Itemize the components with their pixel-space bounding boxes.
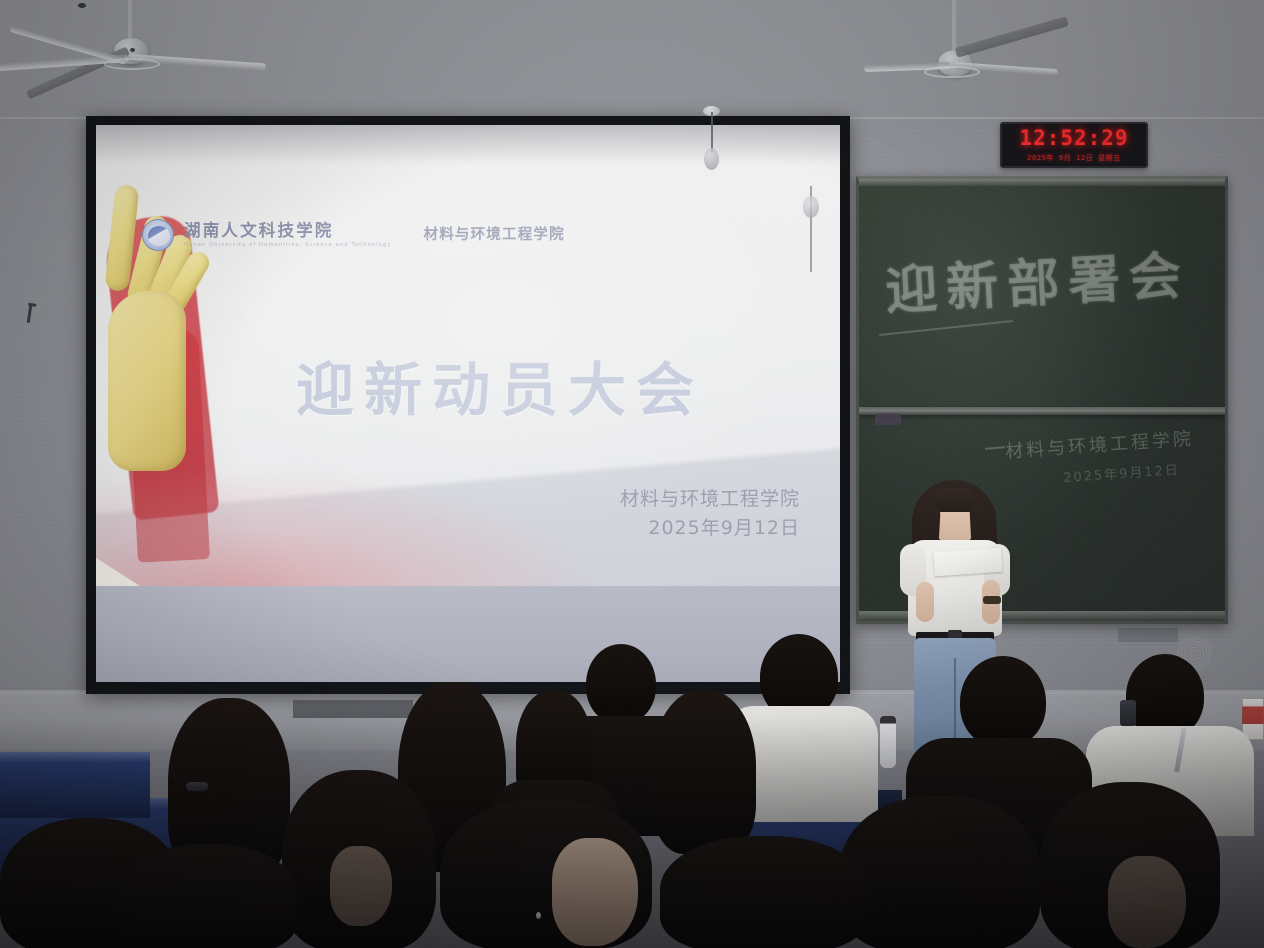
slide-header: 湖南人文科技学院 Hunan University of Humanities,… [142, 219, 565, 251]
classroom-scene: 湖南人文科技学院 Hunan University of Humanities,… [0, 0, 1264, 948]
presentation-slide: 湖南人文科技学院 Hunan University of Humanities,… [96, 125, 840, 682]
clock-date: 2025年 9月 12日 星期五 [1027, 153, 1121, 163]
presenter-arm-left [916, 582, 934, 622]
pull-cord-icon[interactable] [711, 112, 713, 152]
slide-subtitle: 材料与环境工程学院 2025年9月12日 [620, 485, 800, 544]
phone-icon[interactable] [1120, 700, 1136, 726]
slide-subtitle-department: 材料与环境工程学院 [620, 485, 800, 514]
ceiling-speck-2 [130, 48, 135, 52]
digital-wall-clock: 12:52:29 2025年 9月 12日 星期五 [1000, 122, 1148, 168]
water-bottle-icon [880, 716, 896, 768]
slide-bottom-band [96, 586, 840, 682]
audience-face [552, 838, 638, 946]
audience-head [960, 656, 1046, 748]
audience-head-front [840, 796, 1040, 948]
audience-head-front [118, 844, 298, 948]
slide-top-sheen [96, 125, 840, 165]
university-name: 湖南人文科技学院 [184, 222, 392, 239]
wall-fixture [1118, 628, 1178, 642]
ceiling-fan-icon [10, 18, 270, 98]
blackboard-heading: 迎新部署会 [883, 233, 1192, 324]
hair-clip-icon [186, 782, 208, 791]
slide-title: 迎新动员大会 [296, 343, 704, 427]
audience-face [330, 846, 392, 926]
audience-face [1108, 856, 1186, 948]
slide-subtitle-date: 2025年9月12日 [620, 514, 800, 543]
wall-vent-icon [293, 700, 413, 718]
chalk-eraser-icon[interactable] [875, 413, 901, 425]
presenter-watch-icon [983, 596, 1001, 604]
presenter-paper-sheet [933, 548, 1003, 577]
audience-head [652, 690, 756, 854]
pull-cord-knob-2[interactable] [803, 196, 819, 218]
audience-head-front [660, 836, 868, 948]
projection-screen[interactable]: 湖南人文科技学院 Hunan University of Humanities,… [86, 116, 850, 694]
desk-left-back [0, 760, 150, 818]
slide-department: 材料与环境工程学院 [424, 223, 565, 244]
red-notice-sign-icon [1242, 698, 1264, 740]
ceiling-speck [78, 3, 86, 8]
audience-head [586, 644, 656, 724]
ceiling-fan-icon-2 [880, 8, 1120, 94]
blackboard-top-rail [859, 179, 1225, 186]
university-seal-icon [142, 219, 174, 251]
earring-icon [536, 912, 541, 919]
pull-cord-knob[interactable] [704, 148, 719, 170]
clock-time: 12:52:29 [1019, 128, 1128, 149]
university-name-en: Hunan University of Humanities, Science … [184, 242, 392, 248]
blackboard-chalk-tray [859, 407, 1225, 415]
